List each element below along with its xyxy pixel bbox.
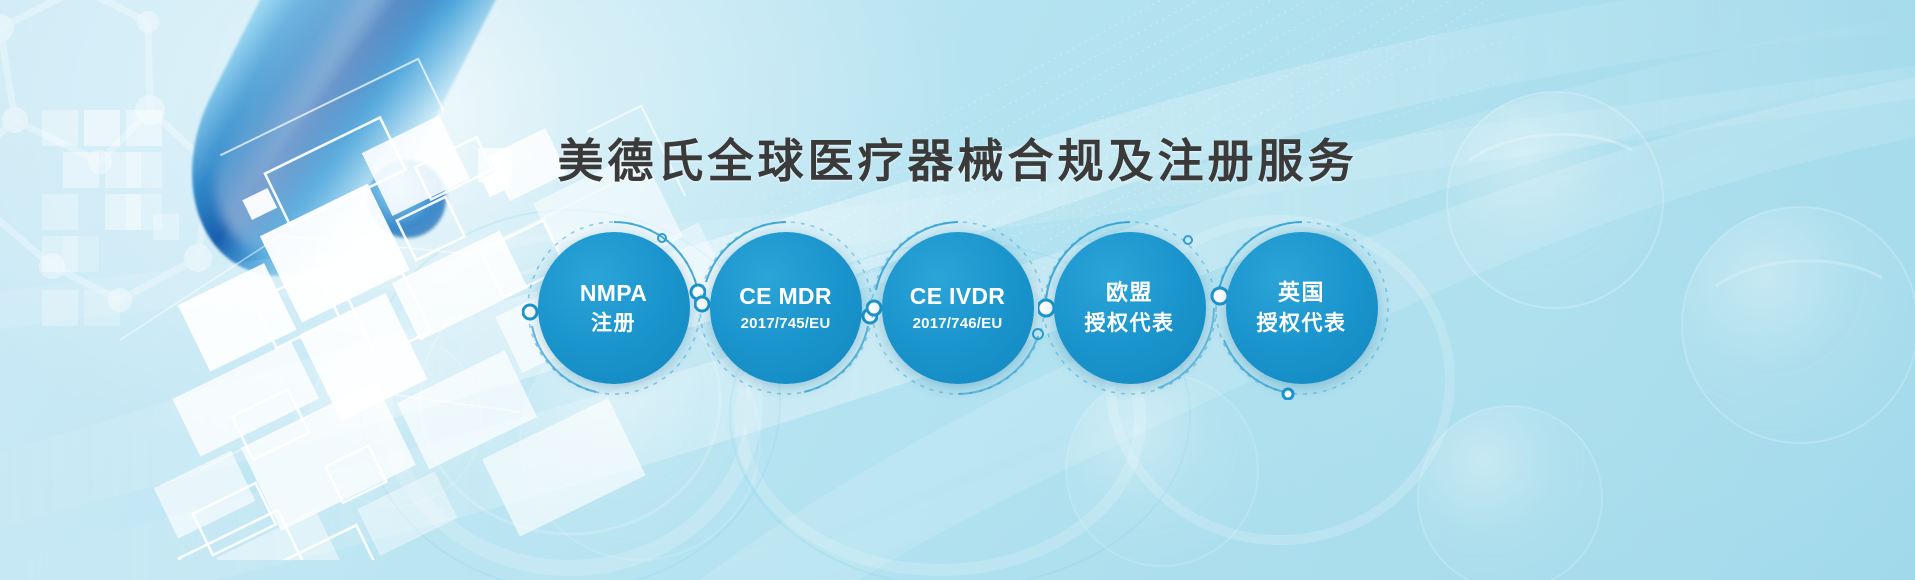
badge-circle: CE IVDR 2017/746/EU — [882, 232, 1034, 384]
badge-circle: 英国 授权代表 — [1226, 232, 1378, 384]
badge-eu-authorized-rep[interactable]: 欧盟 授权代表 — [1054, 232, 1206, 384]
badge-line1: NMPA — [580, 279, 647, 307]
badge-line2: 授权代表 — [1257, 311, 1347, 337]
badge-line2: 2017/745/EU — [741, 315, 831, 333]
badge-line2: 2017/746/EU — [913, 315, 1003, 333]
badge-ce-mdr[interactable]: CE MDR 2017/745/EU — [710, 232, 862, 384]
badge-line1: 英国 — [1278, 280, 1325, 307]
badge-line1: CE IVDR — [910, 282, 1005, 310]
page-title: 美德氏全球医疗器械合规及注册服务 — [0, 125, 1915, 191]
badge-circle: 欧盟 授权代表 — [1054, 232, 1206, 384]
banner-hero: 美德氏全球医疗器械合规及注册服务 NMPA 注册 — [0, 0, 1915, 580]
badge-nmpa[interactable]: NMPA 注册 — [538, 232, 690, 384]
badge-line2: 授权代表 — [1085, 311, 1175, 337]
badge-circle: CE MDR 2017/745/EU — [710, 232, 862, 384]
badge-line1: 欧盟 — [1106, 280, 1153, 307]
badge-uk-authorized-rep[interactable]: 英国 授权代表 — [1226, 232, 1378, 384]
badge-ce-ivdr[interactable]: CE IVDR 2017/746/EU — [882, 232, 1034, 384]
badge-line2: 注册 — [591, 311, 636, 337]
badge-circle: NMPA 注册 — [538, 232, 690, 384]
badge-line1: CE MDR — [739, 282, 832, 310]
badge-row: NMPA 注册 CE MDR 2017/745/EU — [0, 232, 1915, 384]
